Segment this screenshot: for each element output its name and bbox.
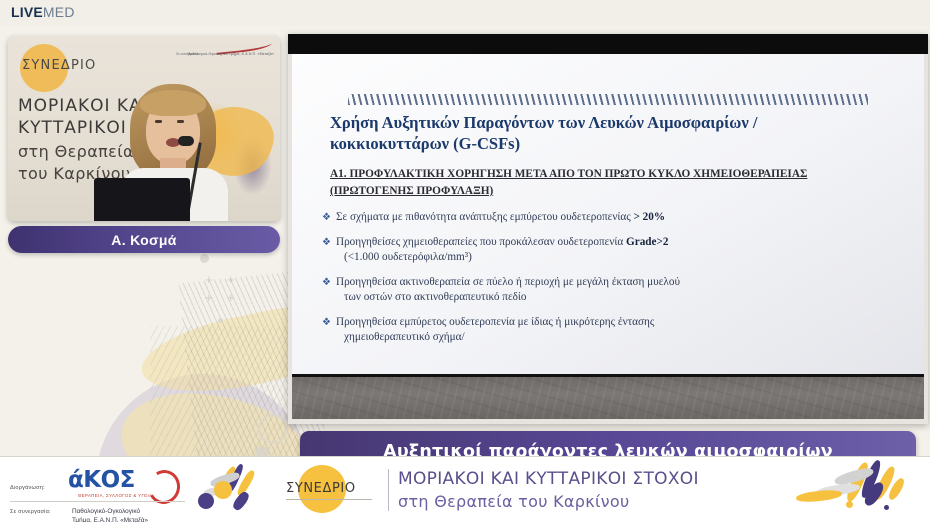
synedrio-underline (286, 499, 372, 500)
presentation-stage: ++ ++ ΣΥΝΕΔΡΙΟ ΜΟΡΙΑΚΟΙ ΚΑΙ ΚΥΤΤΑΡΙΚΟΙ Σ… (0, 26, 930, 456)
backdrop-synedrio-label: ΣΥΝΕΔΡΙΟ (22, 58, 97, 73)
synedrio-logo[interactable]: ΣΥΝΕΔΡΙΟ (280, 463, 380, 517)
slide-bullet-list: ❖ Σε σχήματα με πιθανότητα ανάπτυξης εμπ… (322, 210, 902, 355)
desk-surface (292, 377, 924, 419)
microphone-icon (178, 136, 194, 146)
slide-bullet-item: ❖ Προηγηθείσα ακτινοθεραπεία σε πύελο ή … (322, 275, 902, 306)
bullet-text: Προηγηθείσα εμπύρετος ουδετεροπενία με ί… (336, 316, 654, 328)
brand-live-text: LIVE (11, 4, 43, 20)
slide-tick-decoration (348, 94, 868, 105)
brand-med-text: MED (43, 4, 75, 20)
speaker-hair-front (140, 90, 206, 116)
livemed-logo[interactable]: LIVEMED (11, 4, 75, 20)
presentation-slide: Χρήση Αυξητικών Παραγόντων των Λευκών Αι… (292, 54, 924, 374)
slide-video-panel[interactable]: Χρήση Αυξητικών Παραγόντων των Λευκών Αι… (288, 34, 928, 424)
bullet-bold-text: Grade>2 (626, 236, 668, 248)
bullet-text: Προηγηθείσα ακτινοθεραπεία σε πύελο ή πε… (336, 276, 680, 288)
decorative-ring (258, 414, 288, 444)
backdrop-title-line3: στη Θεραπεία (18, 142, 134, 161)
speaker-video[interactable]: ΣΥΝΕΔΡΙΟ ΜΟΡΙΑΚΟΙ ΚΑΙ ΚΥΤΤΑΡΙΚΟΙ ΣΤΟΧΟΙ … (8, 36, 280, 221)
bullet-text: Σε σχήματα με πιθανότητα ανάπτυξης εμπύρ… (336, 211, 634, 223)
speaker-eye-left (155, 120, 162, 123)
footer-event-title: ΜΟΡΙΑΚΟΙ ΚΑΙ ΚΥΤΤΑΡΙΚΟΙ ΣΤΟΧΟΙ στη Θεραπ… (398, 469, 699, 511)
cooperation-value: Παθολογικό-Ογκολογικό Τμήμα, Ε.Α.Ν.Π. «Μ… (72, 507, 148, 522)
synedrio-label: ΣΥΝΕΔΡΙΟ (286, 481, 356, 496)
decorative-dot (255, 446, 269, 456)
bullet-diamond-icon: ❖ (322, 210, 331, 226)
laptop-screen (94, 178, 190, 221)
organizer-label: Διοργάνωση: (10, 485, 45, 491)
bullet-subtext: των οστών στο ακτινοθεραπευτικό πεδίο (336, 290, 902, 306)
footer-brush-graphic-right (756, 457, 926, 522)
footer-divider (10, 501, 185, 502)
akos-tagline: ΘΕΡΑΠΕΙΑ, ΣΥΛΛΟΓΟΣ & ΥΓΕΙΑ (78, 493, 152, 498)
decorative-plus-pattern: ++ ++ (205, 274, 251, 306)
bullet-diamond-icon: ❖ (322, 235, 331, 251)
akos-logo[interactable]: άΚΟΣ ΘΕΡΑΠΕΙΑ, ΣΥΛΛΟΓΟΣ & ΥΓΕΙΑ (68, 467, 188, 501)
speaker-name-label: Α. Κοσμά (111, 232, 176, 248)
bullet-subtext: (<1.000 ουδετερόφιλα/mm³) (336, 250, 902, 266)
bullet-bold-text: > 20% (634, 211, 666, 223)
akos-wordmark: άΚΟΣ (68, 467, 135, 493)
cooperation-label: Σε συνεργασία: (10, 509, 51, 515)
speaker-name-badge: Α. Κοσμά (8, 226, 280, 253)
bullet-subtext: χημειοθεραπευτικό σχήμα/ (336, 330, 902, 346)
session-title-banner: Αυξητικοί παράγοντες λευκών αιμοσφαιρίων (300, 431, 916, 456)
slide-subtitle: Α1. ΠΡΟΦΥΛΑΚΤΙΚΗ ΧΟΡΗΓΗΣΗ ΜΕΤΑ ΑΠΟ ΤΟΝ Π… (330, 166, 820, 200)
cooperation-value-line1: Παθολογικό-Ογκολογικό (72, 507, 148, 516)
speaker-video-panel[interactable]: ΣΥΝΕΔΡΙΟ ΜΟΡΙΑΚΟΙ ΚΑΙ ΚΥΤΤΑΡΙΚΟΙ ΣΤΟΧΟΙ … (8, 36, 280, 221)
bullet-diamond-icon: ❖ (322, 275, 331, 291)
live-stream-player: LIVEMED ++ ++ ΣΥΝΕΔΡΙΟ ΜΟΡΙΑΚΟΙ ΚΑΙ ΚΥΤΤ… (0, 0, 930, 522)
footer-title-line1: ΜΟΡΙΑΚΟΙ ΚΑΙ ΚΥΤΤΑΡΙΚΟΙ ΣΤΟΧΟΙ (398, 469, 699, 489)
bullet-text: Προηγηθείσες χημειοθεραπείες που προκάλε… (336, 236, 626, 248)
slide-title: Χρήση Αυξητικών Παραγόντων των Λευκών Αι… (330, 112, 810, 154)
backdrop-corner-text: Παθολογικό-Ογκολογικό Τμήμα, Ε.Α.Ν.Π. «Μ… (187, 52, 274, 57)
speaker-eye-right (177, 120, 184, 123)
footer-brush-graphic-left (176, 461, 281, 519)
slide-letterbox-top (288, 34, 928, 54)
top-brand-bar: LIVEMED (0, 0, 930, 26)
bullet-diamond-icon: ❖ (322, 315, 331, 331)
slide-bullet-item: ❖ Προηγηθείσα εμπύρετος ουδετεροπενία με… (322, 315, 902, 346)
backdrop-corner-logo: Σε συνεργασία: Παθολογικό-Ογκολογικό Τμή… (178, 42, 274, 64)
slide-bullet-item: ❖ Σε σχήματα με πιθανότητα ανάπτυξης εμπ… (322, 210, 902, 226)
footer-bar: Διοργάνωση: άΚΟΣ ΘΕΡΑΠΕΙΑ, ΣΥΛΛΟΓΟΣ & ΥΓ… (0, 456, 930, 522)
slide-bullet-item: ❖ Προηγηθείσες χημειοθεραπείες που προκά… (322, 235, 902, 266)
cooperation-value-line2: Τμήμα, Ε.Α.Ν.Π. «Μεταξά» (72, 516, 148, 522)
session-title-label: Αυξητικοί παράγοντες λευκών αιμοσφαιρίων (383, 442, 833, 456)
footer-vertical-rule (388, 469, 389, 511)
decorative-dot (200, 254, 209, 263)
decorative-dot (218, 318, 223, 323)
footer-title-line2: στη Θεραπεία του Καρκίνου (398, 492, 699, 511)
